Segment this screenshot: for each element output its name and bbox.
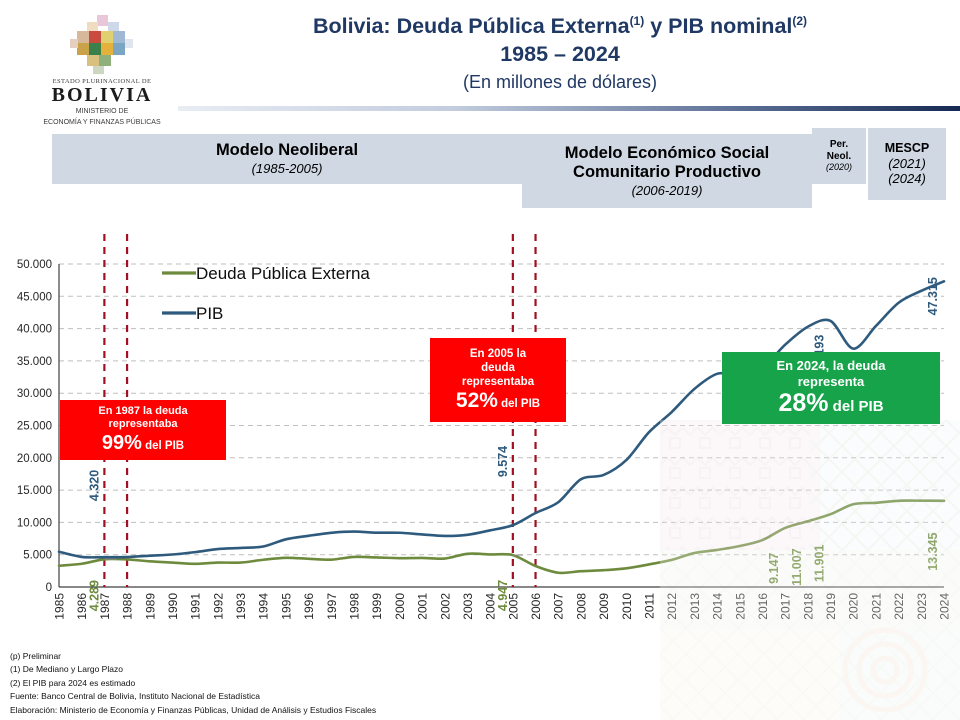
x-axis-tick-label: 2019: [824, 593, 838, 620]
y-axis-tick-label: 10.000: [17, 517, 52, 529]
data-point-label: 4.320: [87, 470, 101, 501]
footnotes-block: (p) Preliminar (1) De Mediano y Largo Pl…: [10, 650, 710, 717]
footnote-elaboracion: Elaboración: Ministerio de Economía y Fi…: [10, 704, 710, 717]
x-axis-tick-label: 1991: [189, 593, 203, 620]
banner-mescp2-title: MESCP: [885, 141, 929, 156]
x-axis-tick-label: 1999: [370, 593, 384, 620]
x-axis-tick-label: 2020: [847, 593, 861, 620]
y-axis-tick-label: 40.000: [17, 324, 52, 336]
title-subtitle-units: (En millones de dólares): [180, 72, 940, 93]
x-axis-tick-label: 2010: [620, 593, 634, 620]
callout-1987-line-2: representaba: [108, 418, 177, 431]
data-point-label: 4.289: [87, 580, 101, 611]
logo-line-ministerio: MINISTERIO DE: [32, 108, 172, 117]
y-axis-tick-label: 15.000: [17, 485, 52, 497]
x-axis-tick-label: 1994: [257, 593, 271, 620]
x-axis-tick-label: 2014: [711, 593, 725, 620]
x-axis-tick-label: 2024: [938, 593, 952, 620]
callout-2005-suffix: del PIB: [498, 398, 540, 410]
footnote-pib-2024: (2) El PIB para 2024 es estimado: [10, 677, 710, 690]
x-axis-tick-label: 1988: [121, 593, 135, 620]
page-title: Bolivia: Deuda Pública Externa(1) y PIB …: [180, 12, 940, 93]
x-axis-tick-label: 2009: [597, 593, 611, 620]
x-axis-tick-label: 1989: [143, 593, 157, 620]
x-axis-tick-label: 1993: [234, 593, 248, 620]
x-axis-tick-label: 2015: [733, 593, 747, 620]
callout-2005-percent: 52%: [456, 389, 498, 412]
data-point-label: 11.007: [790, 548, 804, 586]
x-axis-tick-label: 2000: [393, 593, 407, 620]
banner-modelo-neoliberal: Modelo Neoliberal (1985-2005): [52, 134, 522, 184]
callout-2005-deuda: En 2005 la deuda representaba 52% del PI…: [430, 338, 566, 422]
bolivia-emblem-icon: [67, 14, 137, 76]
x-axis-tick-label: 2023: [915, 593, 929, 620]
y-axis-tick-label: 45.000: [17, 291, 52, 303]
banner-mescp-title: Modelo Económico Social Comunitario Prod…: [522, 144, 812, 183]
banner-neoliberal-title: Modelo Neoliberal: [216, 141, 358, 160]
x-axis-tick-label: 2021: [869, 593, 883, 620]
x-axis-tick-label: 2013: [688, 593, 702, 620]
logo-line-bolivia: BOLIVIA: [32, 85, 172, 106]
logo-line-economia: ECONOMÍA Y FINANZAS PÚBLICAS: [32, 119, 172, 128]
x-axis-tick-label: 2008: [574, 593, 588, 620]
callout-2024-value-row: 28% del PIB: [778, 389, 883, 418]
banner-modelo-mescp: Modelo Económico Social Comunitario Prod…: [522, 134, 812, 208]
x-axis-tick-label: 1997: [325, 593, 339, 620]
y-axis-tick-label: 0: [46, 582, 52, 594]
data-point-label: 11.901: [813, 545, 827, 583]
x-axis-tick-label: 2011: [643, 593, 657, 619]
callout-1987-deuda: En 1987 la deuda representaba 99% del PI…: [60, 400, 226, 460]
x-axis-tick-label: 1998: [348, 593, 362, 620]
x-axis-tick-label: 2012: [665, 593, 679, 620]
banner-perneol-title-1: Per.: [830, 139, 848, 151]
x-axis-tick-label: 2018: [801, 593, 815, 620]
callout-2024-line-2: representa: [798, 374, 864, 390]
x-axis-tick-label: 2001: [416, 593, 430, 620]
banner-perneol-years: (2020): [826, 162, 852, 173]
footnote-fuente: Fuente: Banco Central de Bolivia, Instit…: [10, 690, 710, 703]
x-axis-tick-label: 1992: [211, 593, 225, 620]
data-point-label: 9.574: [496, 446, 510, 477]
y-axis-tick-label: 50.000: [17, 259, 52, 271]
x-axis-tick-label: 2007: [552, 593, 566, 620]
footnote-preliminar: (p) Preliminar: [10, 650, 710, 663]
x-axis-tick-label: 1995: [279, 593, 293, 620]
x-axis-tick-label: 1996: [302, 593, 316, 620]
title-line-1: Bolivia: Deuda Pública Externa(1) y PIB …: [180, 12, 940, 40]
title-text-main: Bolivia: Deuda Pública Externa: [313, 14, 630, 38]
x-axis-tick-label: 2002: [438, 593, 452, 620]
callout-2024-suffix: del PIB: [829, 398, 884, 415]
callout-2005-line-2: deuda: [481, 361, 515, 375]
y-axis-tick-label: 20.000: [17, 453, 52, 465]
y-axis-tick-label: 25.000: [17, 421, 52, 433]
y-axis-tick-label: 30.000: [17, 388, 52, 400]
callout-2024-deuda: En 2024, la deuda representa 28% del PIB: [722, 352, 940, 424]
y-axis-tick-label: 5.000: [23, 550, 52, 562]
x-axis-tick-label: 1985: [53, 593, 67, 620]
title-line-2-years: 1985 – 2024: [180, 40, 940, 68]
x-axis-tick-label: 2006: [529, 593, 543, 620]
banner-mescp-years: (2006-2019): [632, 183, 703, 199]
callout-1987-percent: 99%: [102, 432, 142, 454]
x-axis-tick-label: 2017: [779, 593, 793, 620]
data-point-label: 4.947: [496, 580, 510, 611]
callout-1987-suffix: del PIB: [142, 440, 184, 452]
banner-mescp-2021-2024: MESCP (2021) (2024): [868, 128, 946, 200]
callout-2005-value-row: 52% del PIB: [456, 389, 540, 413]
callout-1987-value-row: 99% del PIB: [102, 432, 184, 455]
title-text-mid: y PIB nominal: [644, 14, 792, 38]
data-point-label: 13.345: [926, 533, 940, 571]
banner-mescp2-years-2: (2024): [888, 171, 926, 187]
callout-2024-percent: 28%: [778, 389, 828, 417]
banner-neoliberal-years: (1985-2005): [252, 161, 323, 177]
footnote-plazo: (1) De Mediano y Largo Plazo: [10, 663, 710, 676]
callout-2024-line-1: En 2024, la deuda: [776, 358, 885, 374]
x-axis-tick-label: 1990: [166, 593, 180, 620]
x-axis-tick-label: 2022: [892, 593, 906, 620]
title-footnote-2: (2): [792, 14, 807, 28]
data-point-label: 47.315: [926, 277, 940, 315]
x-axis-tick-label: 2016: [756, 593, 770, 620]
callout-2005-line-1: En 2005 la: [470, 347, 526, 361]
banner-mescp2-years-1: (2021): [888, 156, 926, 172]
title-footnote-1: (1): [630, 14, 645, 28]
banner-periodo-neoliberal-2020: Per. Neol. (2020): [812, 128, 866, 184]
y-axis-tick-label: 35.000: [17, 356, 52, 368]
ministry-logo: ESTADO PLURINACIONAL DE BOLIVIA MINISTER…: [32, 14, 172, 128]
callout-1987-line-1: En 1987 la deuda: [98, 405, 187, 418]
banner-perneol-title-2: Neol.: [827, 151, 851, 163]
legend-label-deuda: Deuda Pública Externa: [196, 264, 370, 283]
callout-2005-line-3: representaba: [462, 375, 534, 389]
legend-label-pib: PIB: [196, 304, 223, 323]
data-point-label: 9.147: [767, 553, 781, 584]
header-divider: [178, 106, 960, 111]
x-axis-tick-label: 2003: [461, 593, 475, 620]
